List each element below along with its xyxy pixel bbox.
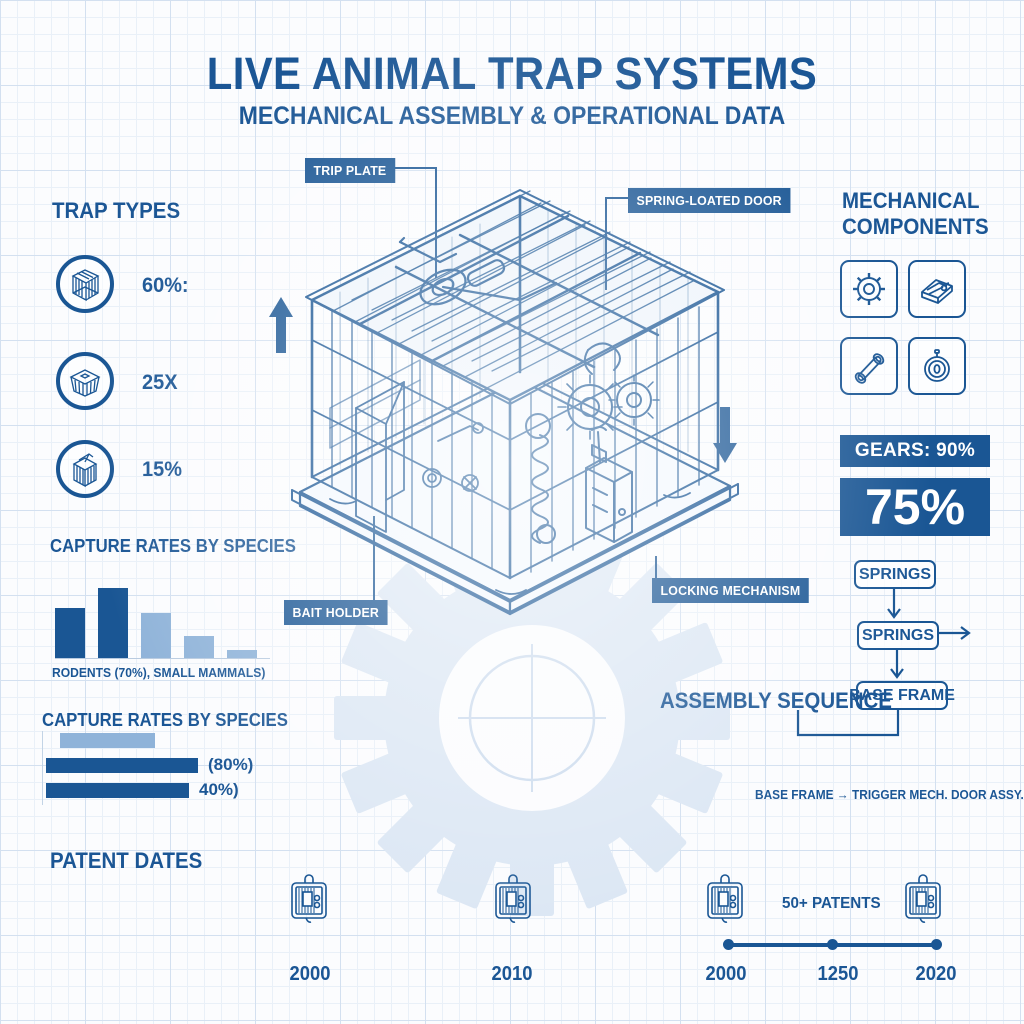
patent-trap-icon-2[interactable] <box>490 874 536 926</box>
patent-year-5: 2020 <box>890 963 982 986</box>
assembly-sequence-heading: ASSEMBLY SEQUENCE <box>660 688 892 714</box>
patent-timeline-dot-3[interactable] <box>931 939 942 950</box>
trap-patent-icon <box>702 874 748 926</box>
patent-year-3: 2000 <box>680 963 772 986</box>
patent-trap-icon-4[interactable] <box>900 874 946 926</box>
trap-patent-icon <box>286 874 332 926</box>
patent-dates-heading: PATENT DATES <box>50 848 202 874</box>
trap-patent-icon <box>900 874 946 926</box>
patent-trap-icon-3[interactable] <box>702 874 748 926</box>
flow-box-1[interactable]: SPRINGS <box>854 560 936 589</box>
patent-year-2: 2010 <box>466 963 558 986</box>
patent-timeline-dot-1[interactable] <box>723 939 734 950</box>
trap-patent-icon <box>490 874 536 926</box>
patent-trap-icon-1[interactable] <box>286 874 332 926</box>
patent-year-1: 2000 <box>264 963 356 986</box>
assembly-sequence-caption: BASE FRAME → TRIGGER MECH. DOOR ASSY. <box>755 788 1024 802</box>
patent-count-note: 50+ PATENTS <box>782 895 881 913</box>
patent-timeline-dot-2[interactable] <box>827 939 838 950</box>
flow-box-2[interactable]: SPRINGS <box>857 621 939 650</box>
patent-year-4: 1250 <box>792 963 884 986</box>
